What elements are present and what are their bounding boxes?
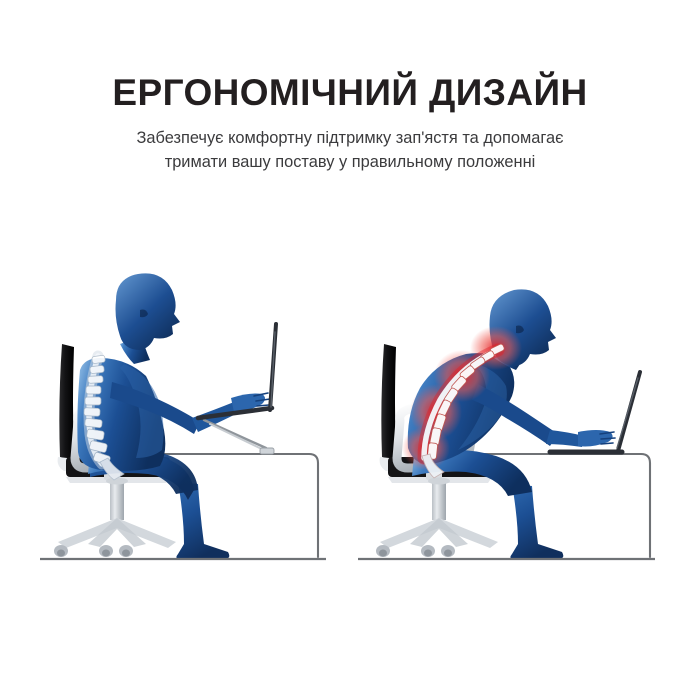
seated-human-figure [77,273,270,559]
header: ЕРГОНОМІЧНИЙ ДИЗАЙН Забезпечує комфортну… [0,74,700,175]
laptop-stand [204,420,274,454]
subtitle-line-2: тримати вашу поставу у правильному полож… [85,151,615,175]
infographic-page: ЕРГОНОМІЧНИЙ ДИЗАЙН Забезпечує комфортну… [0,0,700,700]
subtitle-line-1: Забезпечує комфортну підтримку зап'ястя … [85,127,615,151]
page-title: ЕРГОНОМІЧНИЙ ДИЗАЙН [0,74,700,111]
chair-casters [376,545,455,557]
correct-posture-scene [28,252,348,582]
illustration-row [0,252,700,582]
subtitle: Забезпечує комфортну підтримку зап'ястя … [85,127,615,175]
chair-casters [54,545,133,557]
incorrect-posture-scene [350,252,670,582]
